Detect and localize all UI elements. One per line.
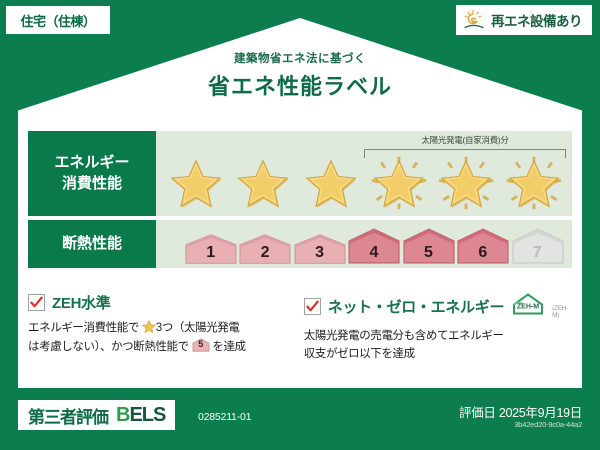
inline-grade-value: 5 xyxy=(192,338,210,352)
certificate-number: 0285211-01 xyxy=(198,411,251,423)
building-category-chip: 住宅（住棟） xyxy=(6,6,110,34)
insulation-grade-value: 1 xyxy=(206,244,215,265)
insulation-grade-6: 6 xyxy=(456,227,509,265)
zeh-text-part1: エネルギー消費性能で xyxy=(28,322,139,334)
evaluation-date-label: 評価日 xyxy=(459,406,496,420)
label-title: 省エネ性能ラベル xyxy=(0,69,600,101)
star-icon xyxy=(232,154,294,212)
zeh-checkbox xyxy=(28,294,45,311)
insulation-grade-2: 2 xyxy=(238,233,291,265)
bels-wordmark-els: ELS xyxy=(129,404,165,426)
solar-bracket-label: 太陽光発電(自家消費)分 xyxy=(364,134,566,146)
insulation-grade-value: 3 xyxy=(315,244,324,265)
sun-icon xyxy=(462,9,486,31)
nzeb-text-line1: 太陽光発電の売電分も含めてエネルギー xyxy=(304,328,568,346)
insulation-grade-value: 7 xyxy=(533,244,542,265)
insulation-performance-row-value: 1 2 3 4 5 6 xyxy=(156,220,572,268)
inline-grade-badge: 5 xyxy=(192,338,210,352)
energy-performance-row: エネルギー 消費性能 太陽光発電(自家消費)分 xyxy=(28,131,572,216)
star-icon xyxy=(165,154,227,212)
insulation-grade-scale: 1 2 3 4 5 6 xyxy=(164,223,564,265)
insulation-grade-value: 5 xyxy=(424,244,433,265)
zeh-text-part2: は考慮しない）、かつ断熱性能で xyxy=(28,341,189,353)
insulation-grade-7: 7 xyxy=(511,227,564,265)
renewable-energy-chip: 再エネ設備あり xyxy=(456,5,592,35)
energy-label-line1: エネルギー xyxy=(54,153,129,173)
bels-wordmark: BELS xyxy=(116,404,165,427)
star-icon-solar xyxy=(503,154,565,212)
criteria-nzeb-body: 太陽光発電の売電分も含めてエネルギー 収支がゼロ以下を達成 xyxy=(304,328,568,364)
star-icon-solar xyxy=(368,154,430,212)
zeh-text-star-count: 3つ（太陽光発電 xyxy=(156,322,240,334)
energy-performance-row-label: エネルギー 消費性能 xyxy=(28,131,156,216)
criteria-nzeb-header: ネット・ゼロ・エネルギー ZEH-M (ZEH-M) xyxy=(304,292,568,321)
zeh-title: ZEH水準 xyxy=(52,292,111,313)
zeh-text-part3: を達成 xyxy=(212,341,245,353)
building-category-label: 住宅（住棟） xyxy=(20,11,95,30)
evaluation-date-value: 2025年9月19日 xyxy=(499,406,582,420)
criteria-zeh: ZEH水準 エネルギー消費性能で 3つ（太陽光発電 は考慮しない）、かつ断熱性能… xyxy=(28,292,294,364)
insulation-grade-4: 4 xyxy=(347,227,400,265)
criteria-zeh-body: エネルギー消費性能で 3つ（太陽光発電 は考慮しない）、かつ断熱性能で 5 を達… xyxy=(28,320,288,357)
evaluation-date: 評価日 2025年9月19日 xyxy=(459,402,582,421)
nzeb-text-line2: 収支がゼロ以下を達成 xyxy=(304,346,568,364)
bels-wordmark-b: B xyxy=(116,404,129,426)
insulation-grade-1: 1 xyxy=(184,233,237,265)
insulation-performance-row: 断熱性能 1 2 3 4 xyxy=(28,220,572,268)
insulation-grade-3: 3 xyxy=(293,233,346,265)
energy-label-line2: 消費性能 xyxy=(62,174,122,194)
svg-text:ZEH-M: ZEH-M xyxy=(517,304,539,311)
insulation-grade-value: 6 xyxy=(478,244,487,265)
record-hash: 3b42ed20-9c0a-44a2 xyxy=(514,420,582,429)
renewable-energy-label: 再エネ設備あり xyxy=(491,10,582,30)
energy-performance-label: 住宅（住棟） 再エネ設備あり 建築物省エネ法に基づく 省エネ性能ラベル xyxy=(0,0,600,450)
insulation-grade-value: 4 xyxy=(370,244,379,265)
third-party-evaluation-label: 第三者評価 xyxy=(28,403,108,428)
star-icon-solar xyxy=(435,154,497,212)
criteria-zeh-header: ZEH水準 xyxy=(28,292,288,313)
nzeb-checkbox xyxy=(304,298,321,315)
zeh-m-logo-sublabel: (ZEH-M) xyxy=(552,305,568,321)
insulation-performance-row-label: 断熱性能 xyxy=(28,220,156,268)
insulation-label: 断熱性能 xyxy=(62,234,122,254)
label-title-block: 建築物省エネ法に基づく 省エネ性能ラベル xyxy=(0,50,600,101)
bels-certification-badge: 第三者評価 BELS xyxy=(18,400,175,430)
star-icon xyxy=(300,154,362,212)
insulation-grade-5: 5 xyxy=(402,227,455,265)
nzeb-title: ネット・ゼロ・エネルギー xyxy=(328,296,504,317)
label-subtitle: 建築物省エネ法に基づく xyxy=(0,50,600,66)
inline-star-icon xyxy=(142,320,156,333)
energy-performance-row-value: 太陽光発電(自家消費)分 xyxy=(156,131,572,216)
criteria-net-zero-energy: ネット・ゼロ・エネルギー ZEH-M (ZEH-M) 太陽光発電の売電分も含めて… xyxy=(294,292,574,364)
criteria-section: ZEH水準 エネルギー消費性能で 3つ（太陽光発電 は考慮しない）、かつ断熱性能… xyxy=(28,292,574,364)
label-footer: 第三者評価 BELS 0285211-01 評価日 2025年9月19日 3b4… xyxy=(0,392,600,450)
insulation-grade-value: 2 xyxy=(261,244,270,265)
energy-star-rating xyxy=(162,152,568,212)
zeh-m-logo-icon: ZEH-M xyxy=(511,292,545,321)
performance-rows: エネルギー 消費性能 太陽光発電(自家消費)分 xyxy=(28,131,572,268)
